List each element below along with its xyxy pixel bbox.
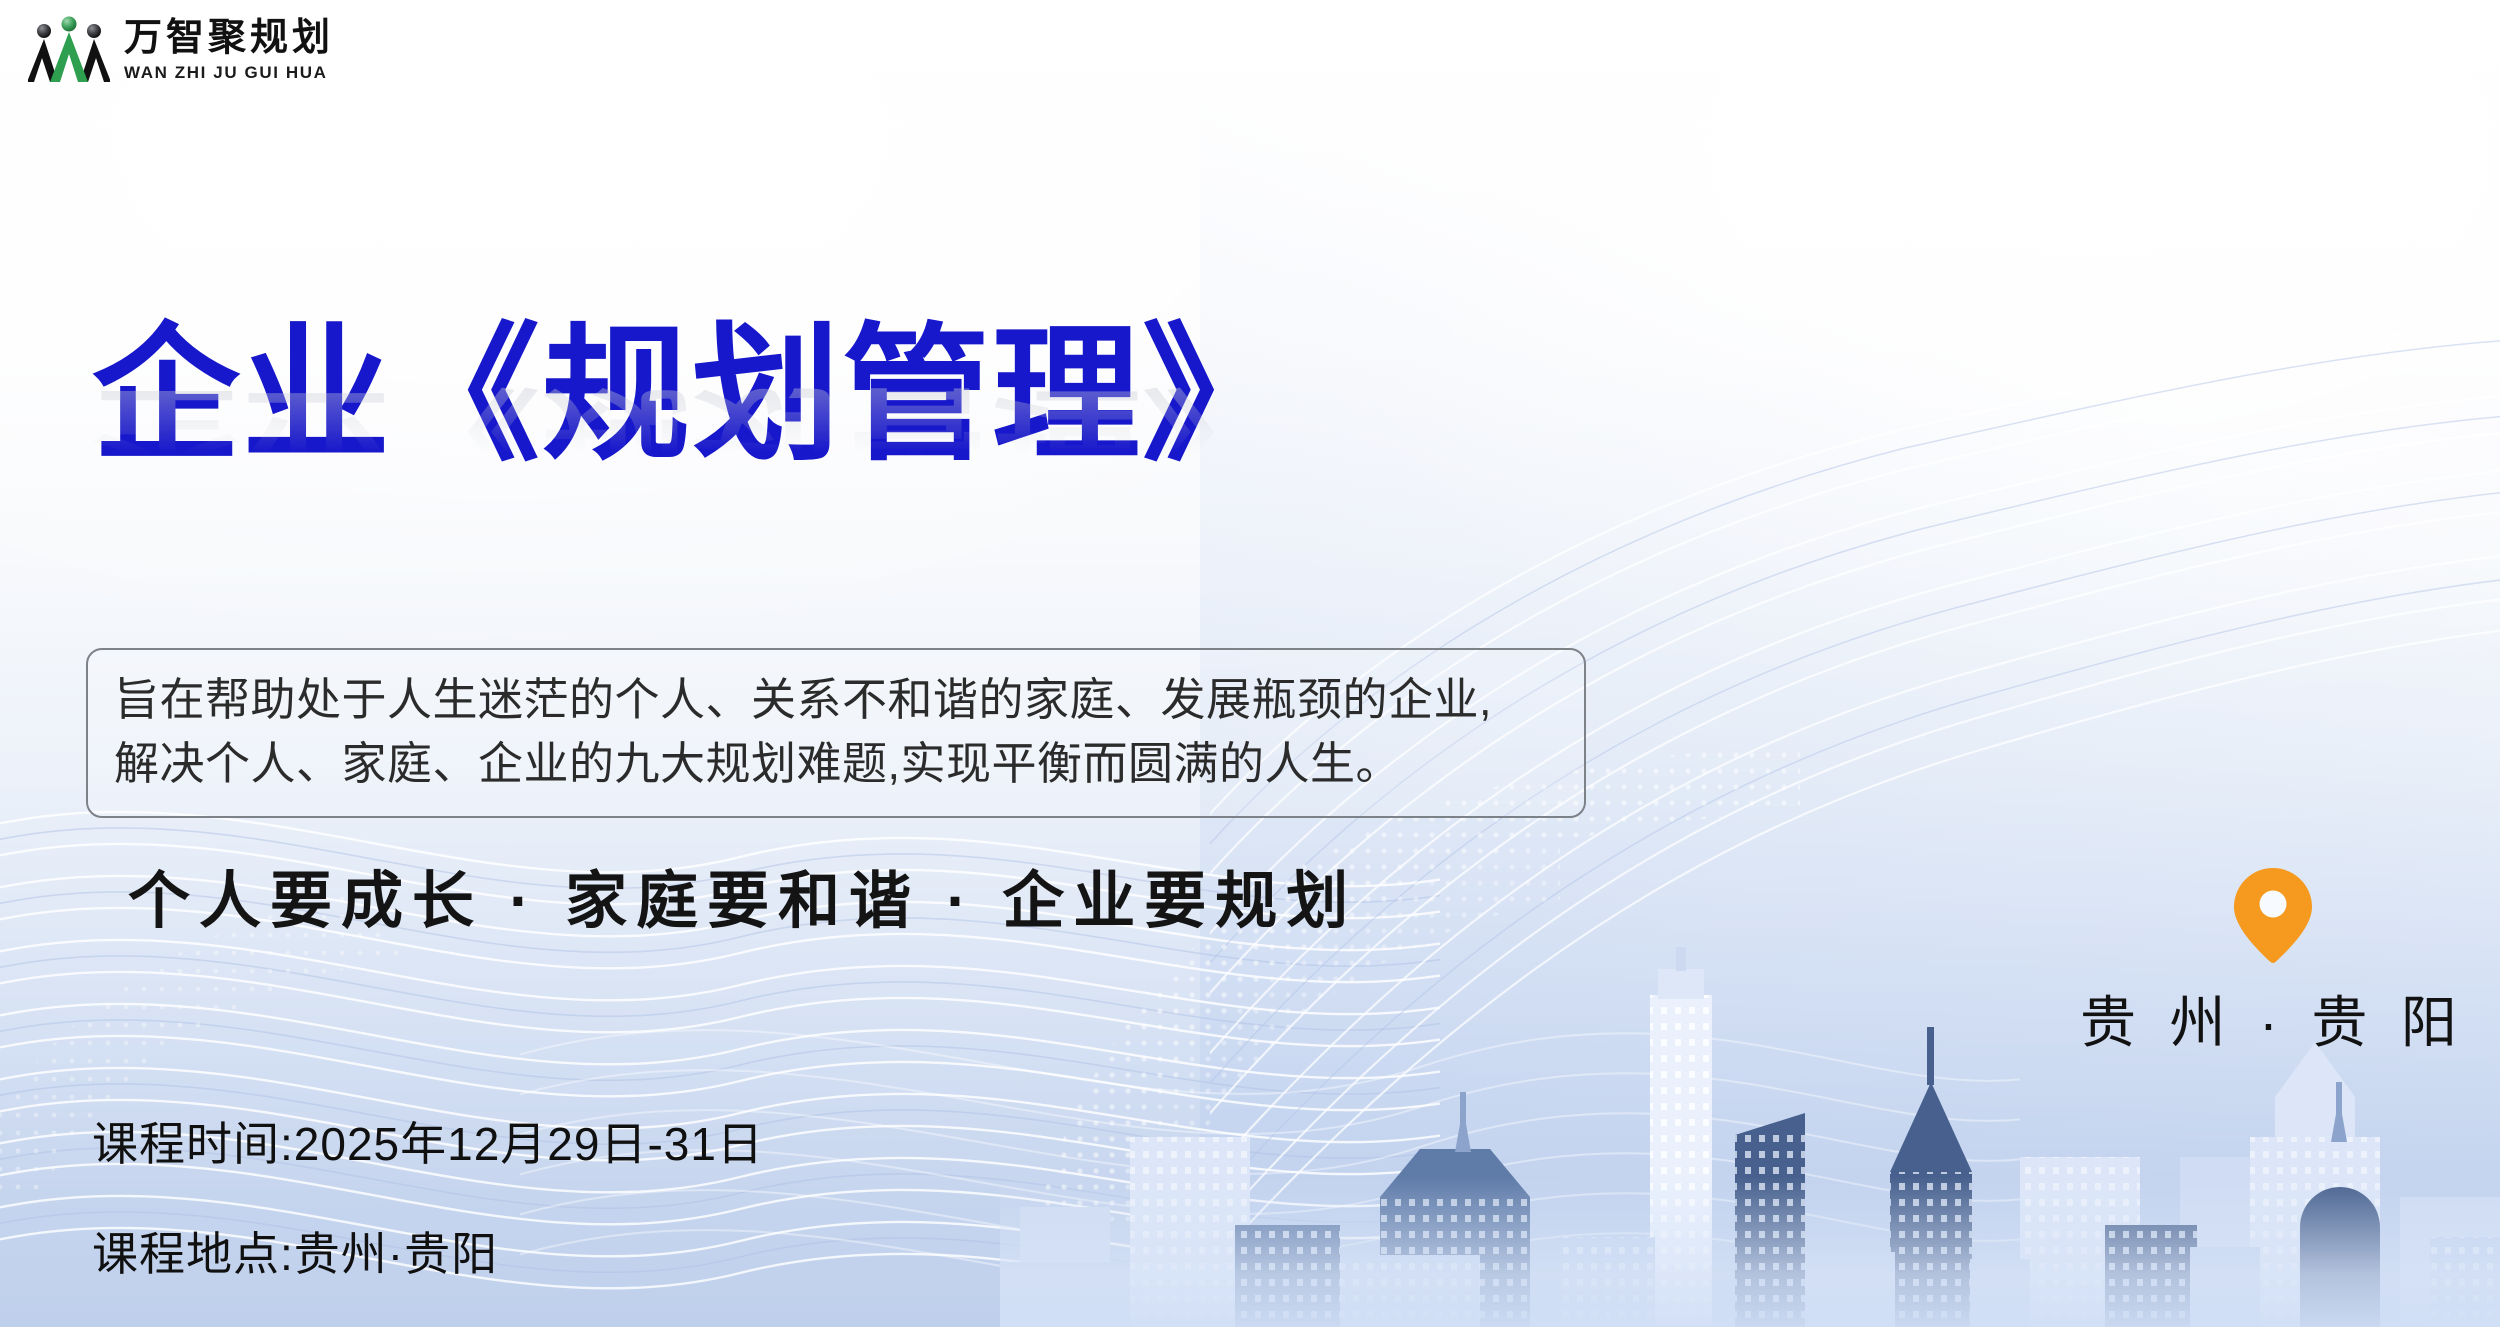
slogan-text: 个人要成长 · 家庭要和谐 · 企业要规划 bbox=[128, 850, 1357, 940]
hero-title-block: 企业《规划管理》 企业《规划管理》 bbox=[92, 322, 1292, 622]
location-city-label: 贵 州 · 贵 阳 bbox=[2080, 978, 2466, 1059]
map-pin-icon bbox=[2232, 866, 2314, 964]
description-line-2: 解决个人、家庭、企业的九大规划难题,实现平衡而圆满的人生。 bbox=[114, 732, 1558, 796]
title-reflection: 企业《规划管理》 bbox=[92, 382, 1292, 474]
course-place: 课程地点:贵州·贵阳 bbox=[92, 1218, 764, 1284]
brand-name-pinyin: WAN ZHI JU GUI HUA bbox=[124, 64, 334, 81]
course-info-block: 课程时间:2025年12月29日-31日 课程地点:贵州·贵阳 bbox=[92, 1108, 764, 1284]
three-people-group-icon bbox=[28, 14, 110, 86]
description-line-1: 旨在帮助处于人生迷茫的个人、关系不和谐的家庭、发展瓶颈的企业, bbox=[114, 668, 1558, 732]
promotional-banner: 万智聚规划 WAN ZHI JU GUI HUA 企业《规划管理》 企业《规划管… bbox=[0, 0, 2500, 1327]
brand-logo: 万智聚规划 WAN ZHI JU GUI HUA bbox=[28, 14, 334, 86]
description-box: 旨在帮助处于人生迷茫的个人、关系不和谐的家庭、发展瓶颈的企业, 解决个人、家庭、… bbox=[86, 648, 1586, 818]
brand-name-cn: 万智聚规划 bbox=[124, 19, 334, 57]
course-time: 课程时间:2025年12月29日-31日 bbox=[92, 1108, 764, 1174]
location-marker: 贵 州 · 贵 阳 bbox=[2080, 866, 2466, 1059]
